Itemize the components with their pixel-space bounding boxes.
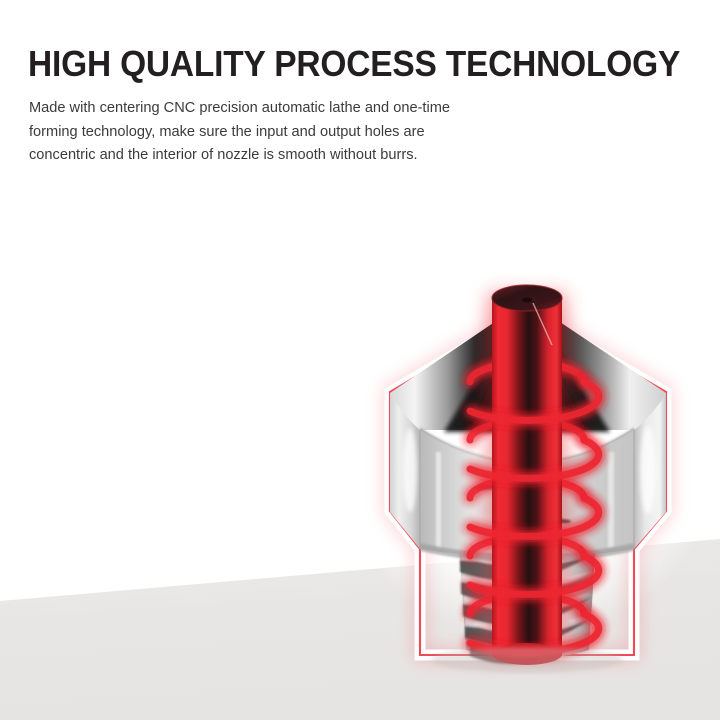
product-feature-banner: HIGH QUALITY PROCESS TECHNOLOGY Made wit… [0,0,720,720]
nozzle-illustration [0,0,720,720]
contact-shadow [431,647,623,673]
product-image-nozzle [0,0,720,720]
bore-center-hole [522,298,532,303]
